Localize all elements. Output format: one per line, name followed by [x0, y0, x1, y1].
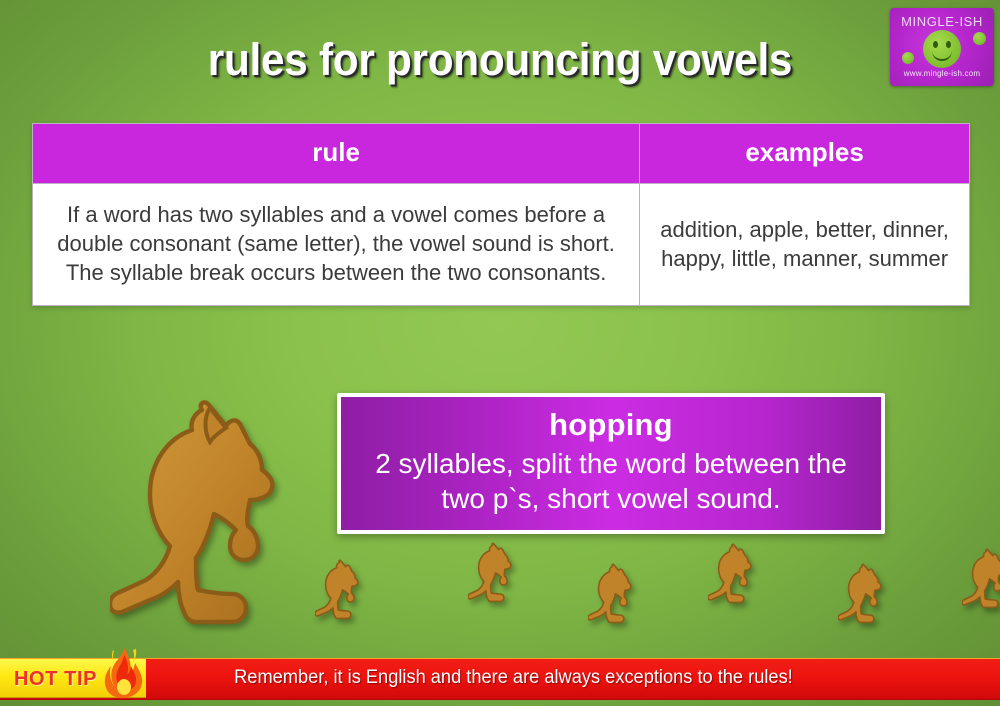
footer-message: Remember, it is English and there are al…: [20, 658, 980, 698]
cell-examples-text: addition, apple, better, dinner, happy, …: [640, 184, 970, 306]
example-description: 2 syllables, split the word between the …: [351, 446, 871, 517]
cell-rule-text: If a word has two syllables and a vowel …: [33, 184, 640, 306]
brand-logo[interactable]: MINGLE-ISH www.mingle-ish.com: [890, 8, 994, 86]
kangaroo-small-icon: [315, 559, 371, 625]
column-header-examples: examples: [640, 124, 970, 184]
logo-website-url: www.mingle-ish.com: [890, 69, 994, 78]
kangaroo-large-icon: [110, 398, 322, 646]
table-row: If a word has two syllables and a vowel …: [33, 184, 970, 306]
table-header-row: rule examples: [33, 124, 970, 184]
smiley-eye-right: [946, 41, 951, 48]
kangaroo-small-icon: [962, 548, 1000, 614]
smiley-face-icon: [923, 30, 961, 68]
kangaroo-small-icon: [468, 542, 524, 608]
kangaroo-small-icon: [708, 543, 764, 609]
slide-canvas: rules for pronouncing vowels MINGLE-ISH …: [0, 0, 1000, 706]
logo-brand-name: MINGLE-ISH: [890, 14, 994, 29]
example-word: hopping: [351, 406, 871, 445]
example-callout-box: hopping 2 syllables, split the word betw…: [337, 393, 885, 534]
column-header-rule: rule: [33, 124, 640, 184]
page-title: rules for pronouncing vowels: [30, 34, 970, 86]
smiley-mouth: [932, 48, 952, 61]
footer-bar: Remember, it is English and there are al…: [0, 658, 1000, 698]
logo-dot-small-right: [973, 32, 986, 45]
kangaroo-small-icon: [838, 563, 894, 629]
smiley-eye-left: [933, 41, 938, 48]
kangaroo-small-icon: [588, 563, 644, 629]
hot-tip-label: HOT TIP: [14, 659, 97, 699]
flame-icon: [102, 647, 148, 699]
logo-dot-small-left: [902, 52, 914, 64]
rules-table: rule examples If a word has two syllable…: [32, 123, 970, 306]
